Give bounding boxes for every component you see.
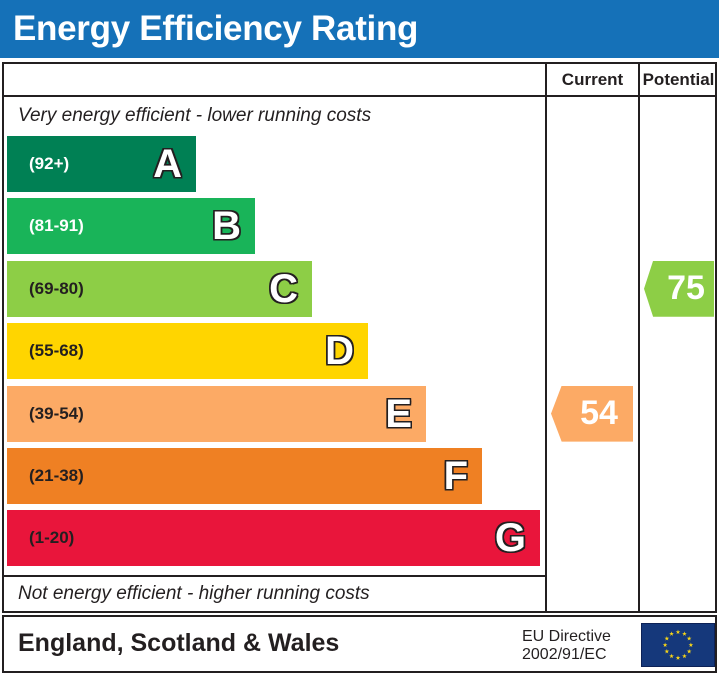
- band-e: (39-54)E: [7, 386, 426, 442]
- band-range-f: (21-38): [29, 466, 84, 486]
- band-letter-c: C: [269, 269, 298, 309]
- band-range-d: (55-68): [29, 341, 84, 361]
- band-g: (1-20)G: [7, 510, 540, 566]
- page-title: Energy Efficiency Rating: [13, 8, 418, 50]
- column-header-potential: Potential: [640, 64, 717, 95]
- band-letter-b: B: [212, 206, 241, 246]
- eu-flag-icon: [641, 623, 715, 667]
- energy-efficiency-rating-chart: Energy Efficiency Rating Current Potenti…: [0, 0, 719, 675]
- band-letter-g: G: [495, 518, 526, 558]
- band-list: (92+)A(81-91)B(69-80)C(55-68)D(39-54)E(2…: [4, 136, 545, 573]
- directive-line-2: 2002/91/EC: [522, 646, 611, 664]
- band-range-b: (81-91): [29, 216, 84, 236]
- column-divider-2: [638, 64, 640, 611]
- band-range-g: (1-20): [29, 528, 74, 548]
- column-header-current: Current: [547, 64, 638, 95]
- chart-footer: England, Scotland & Wales EU Directive 2…: [2, 615, 717, 673]
- column-divider-1: [545, 64, 547, 611]
- caption-not-efficient: Not energy efficient - higher running co…: [4, 575, 545, 611]
- band-range-a: (92+): [29, 154, 69, 174]
- rating-arrow-potential: 75: [644, 261, 714, 317]
- rating-arrow-current: 54: [551, 386, 633, 442]
- band-b: (81-91)B: [7, 198, 255, 254]
- chart-header-bar: Energy Efficiency Rating: [0, 0, 719, 58]
- rating-table: Current Potential Very energy efficient …: [2, 62, 717, 613]
- band-letter-f: F: [444, 456, 468, 496]
- band-range-e: (39-54): [29, 404, 84, 424]
- directive-line-1: EU Directive: [522, 628, 611, 646]
- caption-very-efficient: Very energy efficient - lower running co…: [4, 97, 545, 134]
- band-f: (21-38)F: [7, 448, 482, 504]
- column-header-row: Current Potential: [4, 64, 715, 97]
- rating-value-potential: 75: [667, 269, 705, 308]
- band-d: (55-68)D: [7, 323, 368, 379]
- band-letter-a: A: [153, 144, 182, 184]
- footer-directive-label: EU Directive 2002/91/EC: [522, 628, 611, 664]
- band-letter-d: D: [325, 331, 354, 371]
- band-a: (92+)A: [7, 136, 196, 192]
- footer-region-label: England, Scotland & Wales: [18, 629, 339, 658]
- band-range-c: (69-80): [29, 279, 84, 299]
- rating-value-current: 54: [580, 394, 618, 433]
- band-letter-e: E: [385, 394, 412, 434]
- band-c: (69-80)C: [7, 261, 312, 317]
